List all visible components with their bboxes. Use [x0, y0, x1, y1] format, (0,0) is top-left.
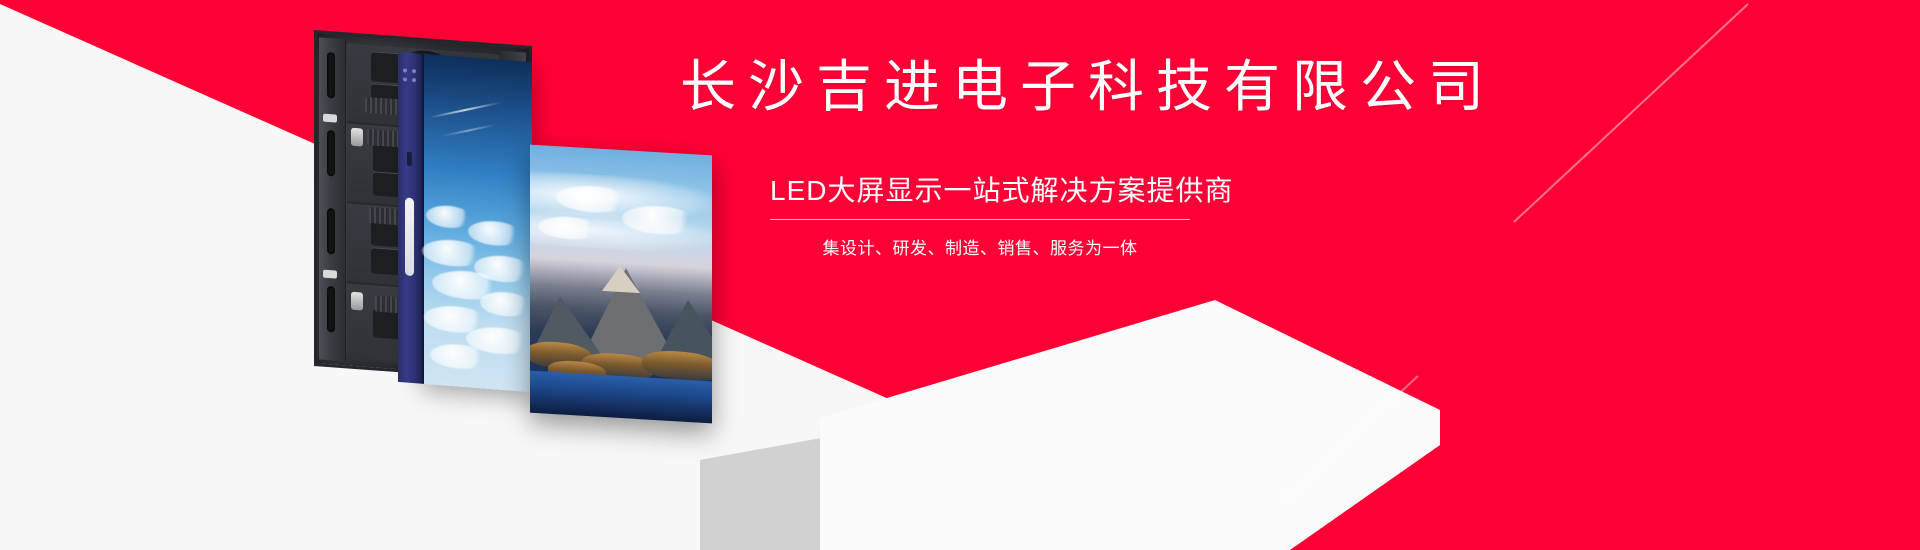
hero-banner: 长沙吉进电子科技有限公司 LED大屏显示一站式解决方案提供商 集设计、研发、制造…	[0, 0, 1920, 550]
panel-handle	[405, 198, 414, 277]
banner-tagline: 集设计、研发、制造、销售、服务为一体	[770, 234, 1190, 259]
banner-text-block: 长沙吉进电子科技有限公司 LED大屏显示一站式解决方案提供商 集设计、研发、制造…	[680, 58, 1520, 259]
panel-top-sensor-icon	[548, 145, 559, 148]
subtitle-group: LED大屏显示一站式解决方案提供商 集设计、研发、制造、销售、服务为一体	[770, 169, 1190, 259]
cabinet-rail-left	[319, 37, 346, 361]
panel-lock-icon	[407, 152, 412, 166]
panel-side-edge-blue	[398, 52, 424, 384]
subtitle-divider	[770, 219, 1190, 220]
company-title: 长沙吉进电子科技有限公司	[680, 58, 1520, 115]
led-panel-sky-display	[422, 54, 532, 392]
banner-subtitle: LED大屏显示一站式解决方案提供商	[770, 169, 1190, 209]
panel-screw-dots-icon	[403, 68, 417, 83]
